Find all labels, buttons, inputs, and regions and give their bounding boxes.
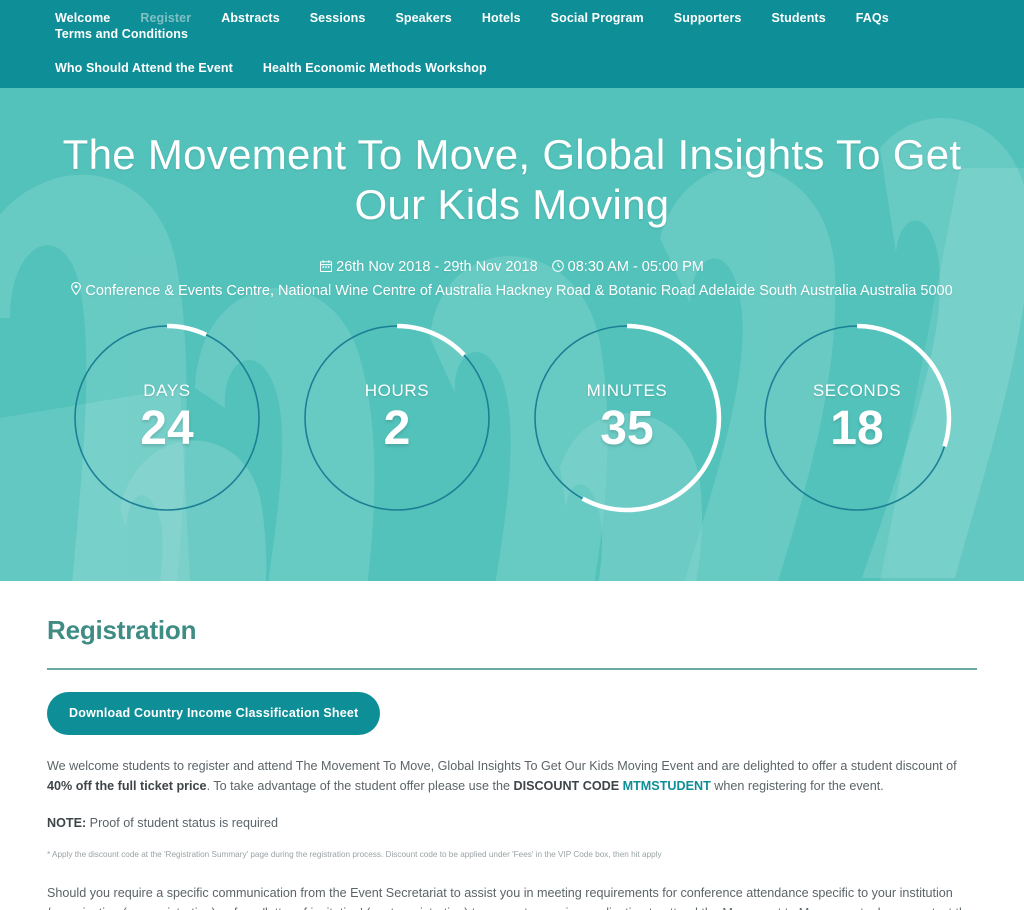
hero-banner: The Movement To Move, Global Insights To… [0,88,1024,581]
note-paragraph: NOTE: Proof of student status is require… [47,813,977,833]
main-navigation: WelcomeRegisterAbstractsSessionsSpeakers… [0,0,1024,88]
nav-item-sessions[interactable]: Sessions [310,10,366,26]
nav-item-health-economic-methods-workshop[interactable]: Health Economic Methods Workshop [263,60,487,76]
nav-row-primary: WelcomeRegisterAbstractsSessionsSpeakers… [0,10,1024,48]
discount-code-value: MTMSTUDENT [623,779,711,793]
nav-item-social-program[interactable]: Social Program [551,10,644,26]
countdown-value-minutes: 35 [600,403,653,455]
countdown-value-days: 24 [140,403,193,455]
countdown-timer: DAYS24HOURS2MINUTES35SECONDS18 [0,320,1024,516]
nav-item-hotels[interactable]: Hotels [482,10,521,26]
nav-item-supporters[interactable]: Supporters [674,10,742,26]
secretariat-paragraph: Should you require a specific communicat… [47,883,977,910]
countdown-unit-hours: HOURS2 [299,320,495,516]
nav-item-terms-and-conditions[interactable]: Terms and Conditions [55,26,188,42]
discount-amount-bold: 40% off the full ticket price [47,779,207,793]
section-title: Registration [47,615,977,646]
note-text: Proof of student status is required [86,816,278,830]
countdown-label-hours: HOURS [365,381,429,401]
countdown-value-hours: 2 [384,403,411,455]
event-location: Conference & Events Centre, National Win… [0,280,1024,302]
nav-item-welcome[interactable]: Welcome [55,10,110,26]
nav-item-speakers[interactable]: Speakers [395,10,451,26]
nav-item-who-should-attend-the-event[interactable]: Who Should Attend the Event [55,60,233,76]
page-title: The Movement To Move, Global Insights To… [62,130,962,230]
countdown-unit-minutes: MINUTES35 [529,320,725,516]
registration-section: Registration Download Country Income Cla… [0,581,1024,910]
event-dates: 26th Nov 2018 - 29th Nov 2018 [336,259,538,275]
discount-fineprint: * Apply the discount code at the 'Regist… [47,849,977,861]
event-times: 08:30 AM - 05:00 PM [568,259,704,275]
nav-item-register[interactable]: Register [140,10,191,26]
nav-item-students[interactable]: Students [771,10,825,26]
secretariat-text: Should you require a specific communicat… [47,886,973,910]
paragraph1-part2: . To take advantage of the student offer… [207,779,514,793]
countdown-label-days: DAYS [143,381,190,401]
discount-code-label: DISCOUNT CODE [513,779,622,793]
paragraph1-part3: when registering for the event. [711,779,884,793]
student-discount-paragraph: We welcome students to register and atte… [47,756,977,796]
paragraph1-part1: We welcome students to register and atte… [47,759,957,773]
countdown-unit-days: DAYS24 [69,320,265,516]
title-divider [47,668,977,670]
map-pin-icon [71,283,85,299]
countdown-label-seconds: SECONDS [813,381,901,401]
clock-icon [552,257,564,279]
nav-item-faqs[interactable]: FAQs [856,10,889,26]
countdown-value-seconds: 18 [830,403,883,455]
countdown-unit-seconds: SECONDS18 [759,320,955,516]
nav-item-abstracts[interactable]: Abstracts [221,10,280,26]
event-location-text: Conference & Events Centre, National Win… [85,283,952,299]
calendar-icon [320,257,332,279]
download-country-income-classification-sheet-button[interactable]: Download Country Income Classification S… [47,692,380,735]
event-datetime: 26th Nov 2018 - 29th Nov 2018 08:30 AM -… [0,256,1024,279]
hero-content: The Movement To Move, Global Insights To… [0,88,1024,516]
note-label: NOTE: [47,816,86,830]
countdown-label-minutes: MINUTES [587,381,668,401]
nav-row-secondary: Who Should Attend the EventHealth Econom… [0,48,1024,80]
